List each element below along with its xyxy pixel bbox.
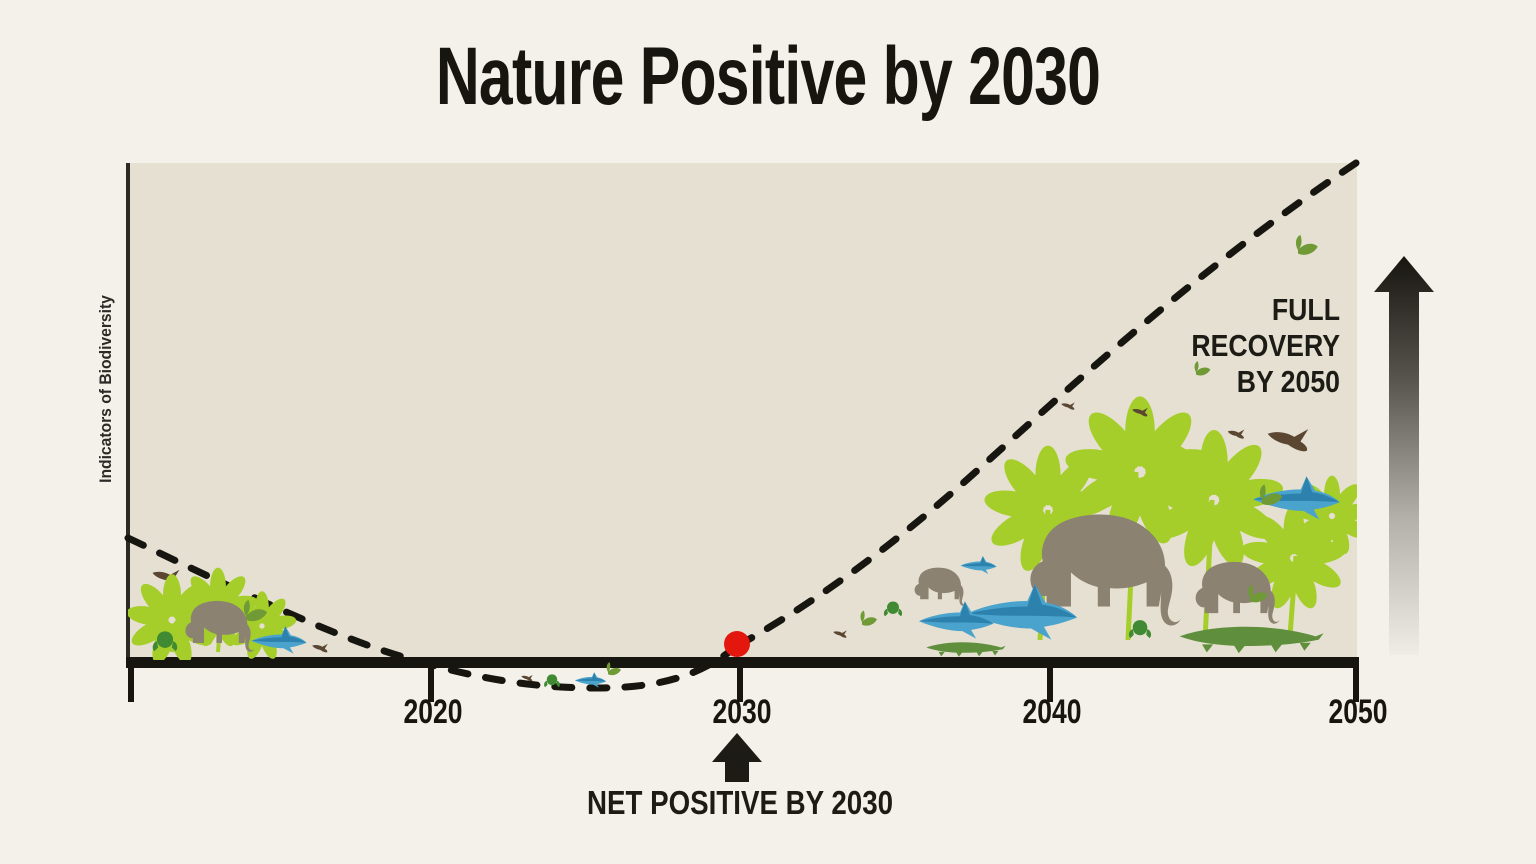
growth-gradient-arrow-icon <box>1374 256 1434 655</box>
net-positive-annotation: NET POSITIVE BY 2030 <box>538 785 941 821</box>
full-recovery-annotation: FULL RECOVERY BY 2050 <box>1168 292 1340 400</box>
infographic-canvas: Nature Positive by 2030 Indicators of Bi… <box>0 0 1536 864</box>
net-positive-up-arrow-icon <box>712 733 762 782</box>
x-tick-2010 <box>128 668 134 702</box>
shark-icon <box>575 672 606 688</box>
plot-area <box>128 163 1357 660</box>
x-tick-label-2040: 2040 <box>994 694 1111 730</box>
full-recovery-line-3: BY 2050 <box>1168 364 1340 400</box>
frog-icon <box>544 674 560 687</box>
bird-icon <box>521 675 532 681</box>
full-recovery-line-1: FULL <box>1168 292 1340 328</box>
y-axis-label: Indicators of Biodiversity <box>97 269 115 508</box>
x-axis-line <box>126 657 1359 668</box>
full-recovery-line-2: RECOVERY <box>1168 328 1340 364</box>
x-tick-label-2020: 2020 <box>375 694 492 730</box>
page-title: Nature Positive by 2030 <box>200 34 1337 120</box>
x-tick-label-2030: 2030 <box>684 694 801 730</box>
y-axis-line <box>126 163 130 663</box>
x-tick-label-2050: 2050 <box>1300 694 1417 730</box>
